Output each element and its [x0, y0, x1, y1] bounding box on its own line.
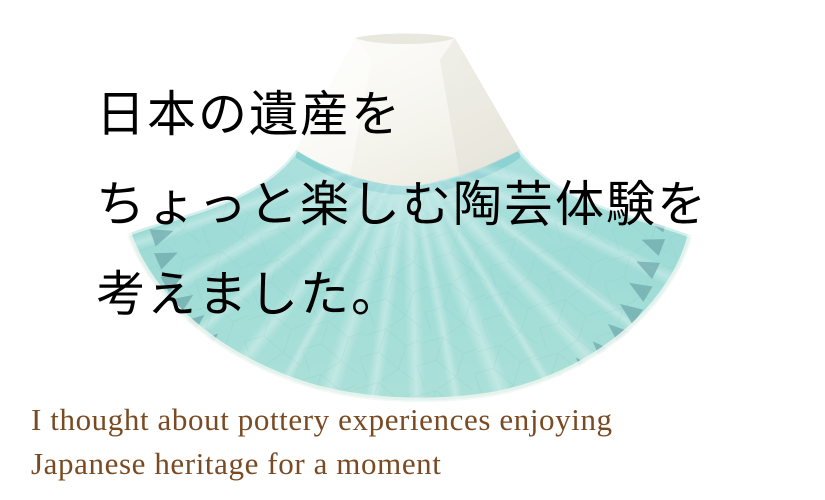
headline-line-1: 日本の遺産を: [96, 70, 796, 160]
headline-block: 日本の遺産を ちょっと楽しむ陶芸体験を 考えました。: [96, 70, 796, 340]
crater-rim: [355, 34, 455, 45]
subtitle-line-1: I thought about pottery experiences enjo…: [31, 398, 821, 442]
subtitle-line-2: Japanese heritage for a moment: [31, 442, 821, 486]
headline-line-3: 考えました。: [96, 250, 796, 340]
subtitle-block: I thought about pottery experiences enjo…: [31, 398, 821, 486]
headline-line-2: ちょっと楽しむ陶芸体験を: [96, 160, 796, 250]
image-canvas: 日本の遺産を ちょっと楽しむ陶芸体験を 考えました。 I thought abo…: [0, 0, 825, 500]
